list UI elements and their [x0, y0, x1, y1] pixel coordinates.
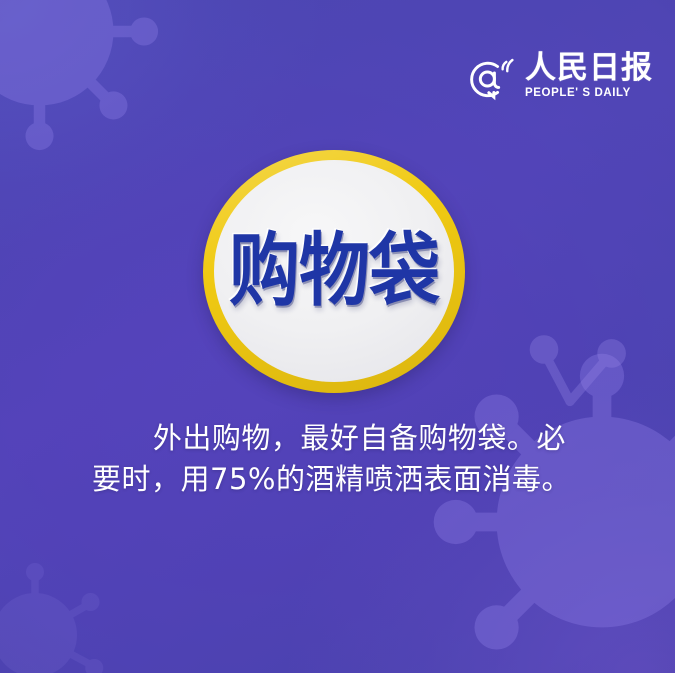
badge-face: 购物袋 — [214, 160, 454, 382]
headline-badge: 购物袋 — [203, 150, 465, 393]
body-text: 外出购物，最好自备购物袋。必要时，用75%的酒精喷洒表面消毒。 — [92, 418, 592, 500]
at-speech-bubble-icon — [466, 54, 518, 104]
logo-wordmark: 人民日报 PEOPLE' S DAILY — [525, 52, 653, 100]
peoples-daily-logo[interactable]: 人民日报 PEOPLE' S DAILY — [466, 52, 653, 104]
logo-chinese-name: 人民日报 — [525, 52, 653, 84]
page-title: 购物袋 — [229, 230, 439, 310]
logo-english-name: PEOPLE' S DAILY — [525, 86, 653, 100]
poster-canvas: 人民日报 PEOPLE' S DAILY 购物袋 外出购物，最好自备购物袋。必要… — [0, 0, 675, 673]
